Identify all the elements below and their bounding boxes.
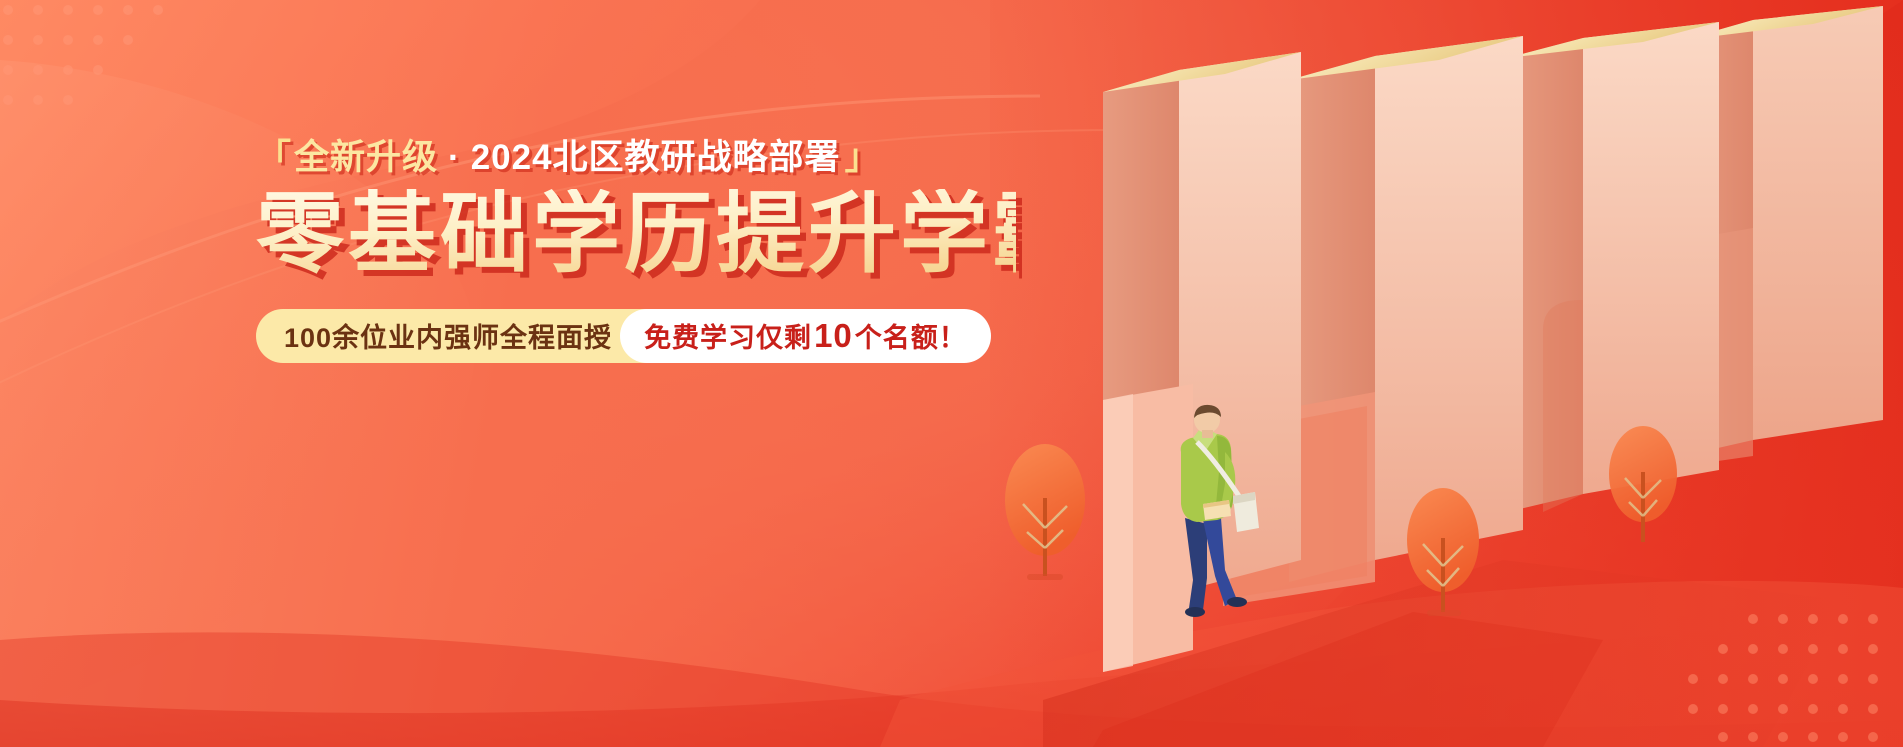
door-panel: [1103, 384, 1193, 672]
subtitle-bracket-open: 「: [256, 140, 292, 175]
promo-banner: 「 全新升级 · 2024北区教研战略部署 」 零基础学历提升学霸班 100余位…: [0, 0, 1903, 747]
subtitle-bracket-close: 」: [845, 140, 881, 175]
book-arches-illustration: [983, 0, 1903, 747]
pill-seats-prefix: 免费学习仅剩: [644, 311, 812, 365]
tree-far-right: [1609, 426, 1677, 542]
pill-instructors-label: 100余位业内强师全程面授: [284, 316, 612, 355]
banner-copy: 「 全新升级 · 2024北区教研战略部署 」 零基础学历提升学霸班 100余位…: [256, 140, 1016, 363]
pill-seats-suffix: 个名额！: [855, 311, 967, 365]
pill-seats-count: 10: [812, 309, 855, 363]
pill-seats-remaining[interactable]: 免费学习仅剩 10 个名额！: [620, 309, 991, 363]
tree-left: [1005, 444, 1085, 580]
banner-headline: 零基础学历提升学霸班: [256, 189, 1016, 279]
banner-pill-row: 100余位业内强师全程面授 免费学习仅剩 10 个名额！: [256, 309, 1016, 363]
banner-subtitle: 「 全新升级 · 2024北区教研战略部署 」: [256, 140, 1016, 175]
subtitle-separator: ·: [438, 140, 471, 175]
book-arch-3: [1507, 22, 1719, 512]
pill-instructors: 100余位业内强师全程面授: [256, 309, 638, 363]
subtitle-highlight: 全新升级: [294, 140, 438, 175]
subtitle-rest: 2024北区教研战略部署: [471, 140, 841, 175]
background-left-warm: [0, 0, 1142, 747]
